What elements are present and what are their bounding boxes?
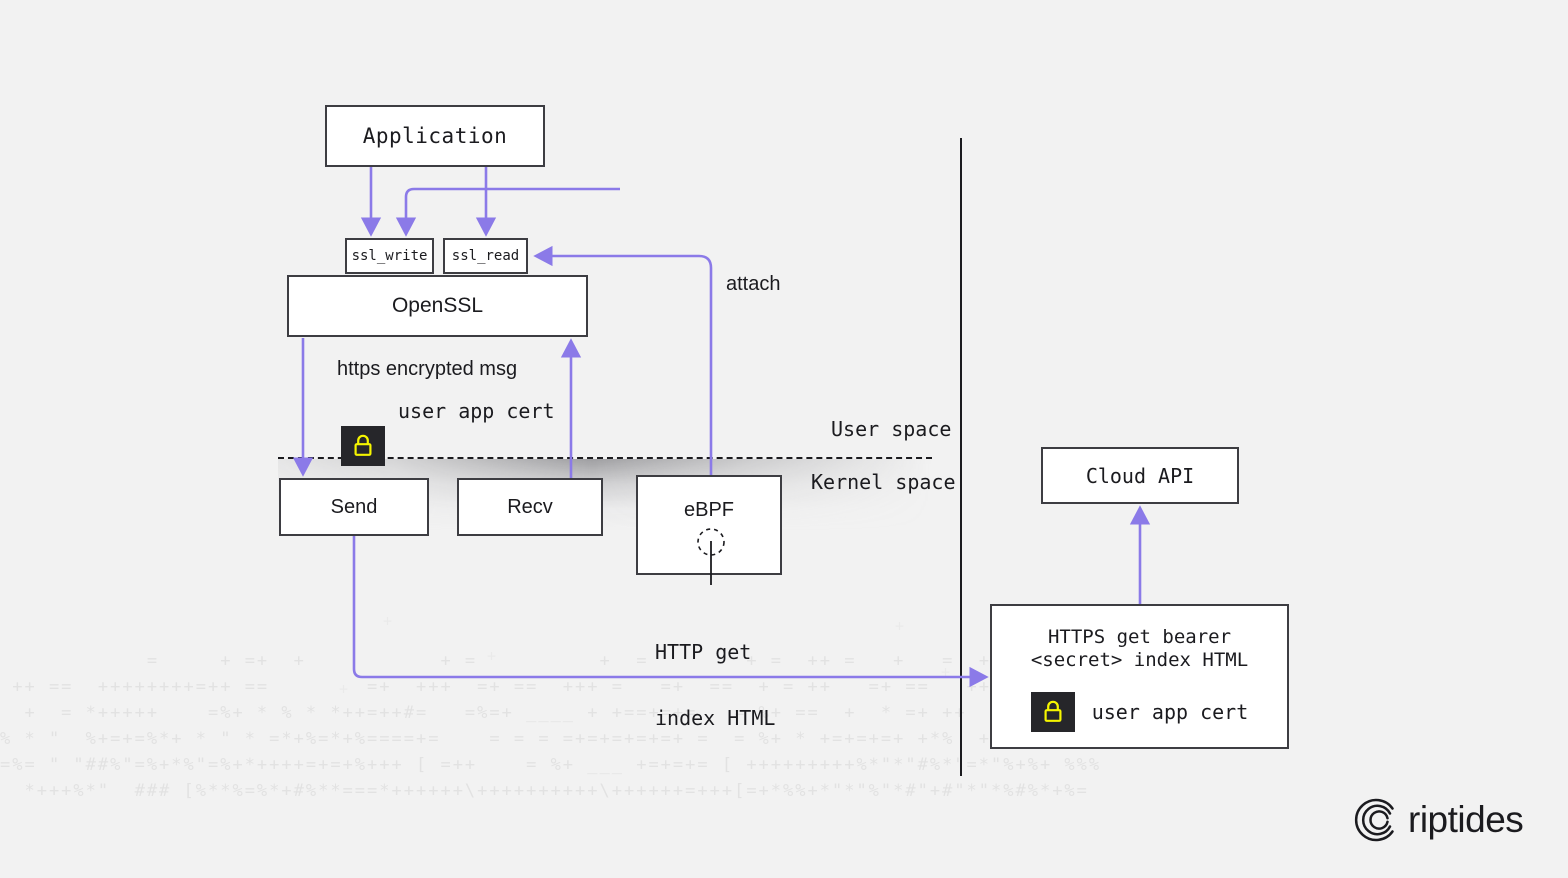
label-https-encrypted-msg: https encrypted msg	[337, 358, 517, 381]
label-kernel-space: Kernel space	[811, 470, 956, 494]
node-ssl-read[interactable]: ssl_read	[443, 238, 528, 274]
node-application[interactable]: Application	[325, 105, 545, 167]
label-user-app-cert: user app cert	[398, 399, 555, 423]
logo-wordmark: riptides	[1408, 799, 1523, 841]
label-attach: attach	[726, 273, 780, 296]
https-cert-row: user app cert	[1031, 692, 1249, 732]
http-get-line-2: index HTML	[655, 707, 775, 729]
node-https-request[interactable]: HTTPS get bearer <secret> index HTML use…	[990, 604, 1289, 749]
riptides-logo: riptides	[1352, 798, 1523, 842]
https-cert-label: user app cert	[1092, 700, 1249, 724]
background-ascii-texture: = + =+ + + = + = + = ++ = + = + ++ ++ ==…	[0, 648, 1568, 878]
spiral-wave-icon	[1352, 798, 1396, 842]
https-request-line-2: <secret> index HTML	[1031, 649, 1248, 672]
lock-icon	[1031, 692, 1075, 732]
https-request-line-1: HTTPS get bearer	[1048, 626, 1231, 649]
ebpf-hook-pin-icon	[694, 527, 728, 589]
node-cloud-api[interactable]: Cloud API	[1041, 447, 1239, 504]
vertical-separator	[960, 138, 962, 776]
background-sparse-marks: + + + + + + + +	[0, 0, 1568, 878]
label-http-get-index-html: HTTP get index HTML	[655, 597, 775, 773]
node-ssl-write[interactable]: ssl_write	[345, 238, 434, 274]
http-get-line-1: HTTP get	[655, 641, 775, 663]
node-openssl[interactable]: OpenSSL	[287, 275, 588, 337]
label-user-space: User space	[831, 417, 951, 441]
diagram-canvas: = + =+ + + = + = + = ++ = + = + ++ ++ ==…	[0, 0, 1568, 878]
lock-icon	[341, 390, 385, 502]
arrow-return-to-ssl-write	[406, 189, 620, 231]
arrow-layer	[0, 0, 1568, 878]
node-recv[interactable]: Recv	[457, 478, 603, 536]
